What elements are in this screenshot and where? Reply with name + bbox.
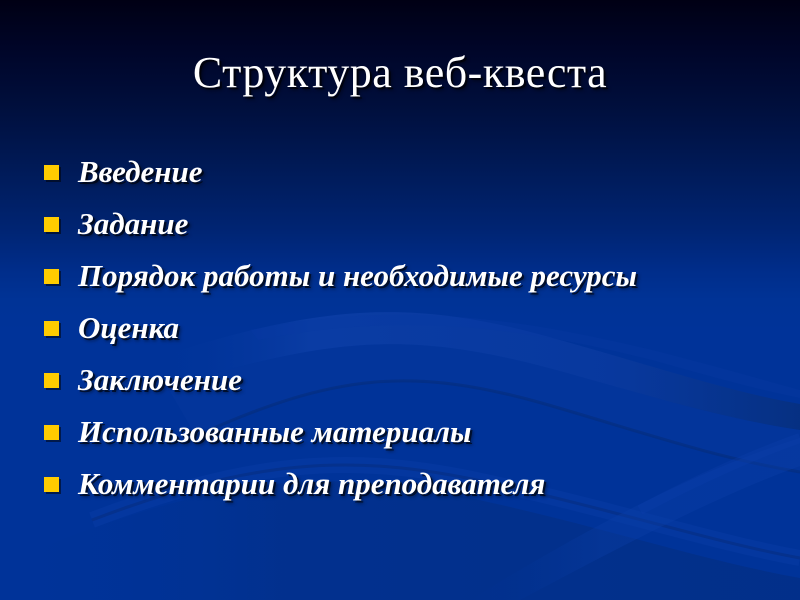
list-item: Использованные материалы	[44, 406, 788, 458]
list-item-label: Заключение	[78, 363, 788, 397]
list-item: Заключение	[44, 354, 788, 406]
slide-title: Структура веб-квеста	[0, 46, 800, 100]
yellow-square-bullet-icon	[44, 321, 59, 336]
list-item: Оценка	[44, 302, 788, 354]
list-item-label: Оценка	[78, 311, 788, 345]
list-item-label: Комментарии для преподавателя	[78, 467, 788, 501]
yellow-square-bullet-icon	[44, 373, 59, 388]
yellow-square-bullet-icon	[44, 425, 59, 440]
yellow-square-bullet-icon	[44, 477, 59, 492]
list-item-label: Порядок работы и необходимые ресурсы	[78, 259, 788, 293]
list-item-label: Введение	[78, 155, 788, 189]
list-item-label: Использованные материалы	[78, 415, 788, 449]
yellow-square-bullet-icon	[44, 165, 59, 180]
slide-bullet-list: Введение Задание Порядок работы и необхо…	[44, 146, 788, 510]
yellow-square-bullet-icon	[44, 217, 59, 232]
list-item-label: Задание	[78, 207, 788, 241]
list-item: Комментарии для преподавателя	[44, 458, 788, 510]
list-item: Порядок работы и необходимые ресурсы	[44, 250, 788, 302]
list-item: Введение	[44, 146, 788, 198]
yellow-square-bullet-icon	[44, 269, 59, 284]
list-item: Задание	[44, 198, 788, 250]
presentation-slide: Структура веб-квеста Введение Задание По…	[0, 0, 800, 600]
